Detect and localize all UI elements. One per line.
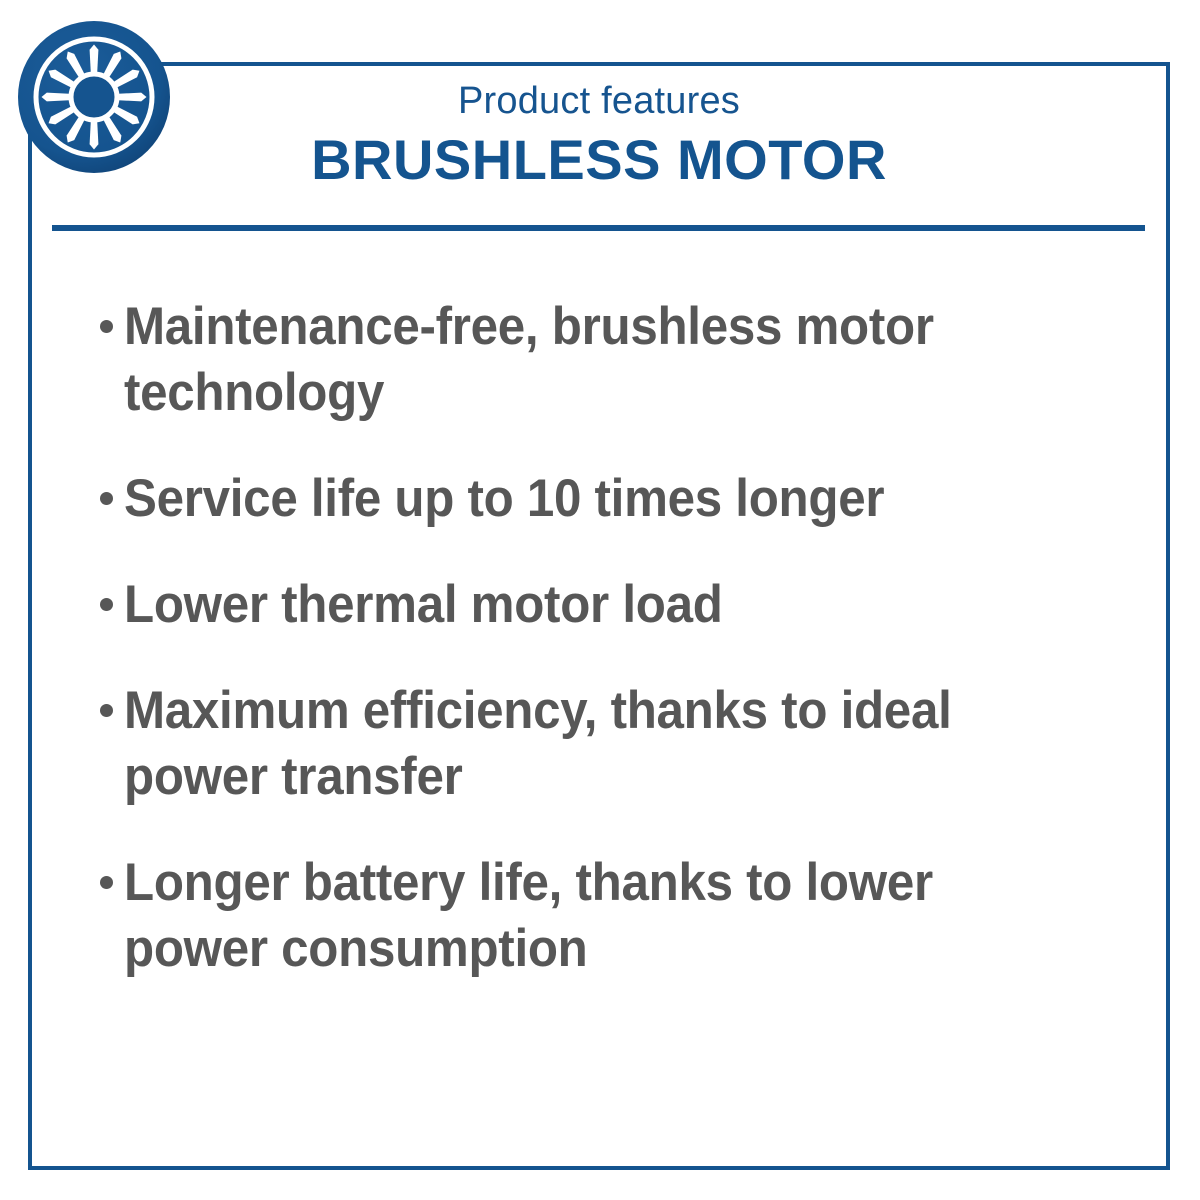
list-item-label: Maximum efficiency, thanks to ideal powe… xyxy=(124,678,1041,810)
list-item: Longer battery life, thanks to lower pow… xyxy=(100,850,1110,982)
list-item-label: Lower thermal motor load xyxy=(124,572,1041,638)
header-divider xyxy=(52,225,1145,231)
list-item: Service life up to 10 times longer xyxy=(100,466,1110,532)
list-item-label: Maintenance-free, brushless motor techno… xyxy=(124,294,1041,426)
list-item-label: Service life up to 10 times longer xyxy=(124,466,1041,532)
page-title: BRUSHLESS MOTOR xyxy=(52,128,1146,192)
bullet-dot-icon xyxy=(100,598,113,611)
eyebrow-label: Product features xyxy=(52,78,1146,124)
bullet-dot-icon xyxy=(100,704,113,717)
list-item-label: Longer battery life, thanks to lower pow… xyxy=(124,850,1041,982)
list-item: Maximum efficiency, thanks to ideal powe… xyxy=(100,678,1110,810)
bullet-dot-icon xyxy=(100,492,113,505)
bullet-dot-icon xyxy=(100,876,113,889)
brushless-motor-rotor-icon xyxy=(18,21,170,173)
bullet-dot-icon xyxy=(100,320,113,333)
list-item: Lower thermal motor load xyxy=(100,572,1110,638)
product-features-slide: Product features BRUSHLESS MOTOR Mainten… xyxy=(0,0,1200,1200)
feature-list: Maintenance-free, brushless motor techno… xyxy=(100,294,1110,982)
list-item: Maintenance-free, brushless motor techno… xyxy=(100,294,1110,426)
header-block: Product features BRUSHLESS MOTOR xyxy=(52,78,1146,192)
